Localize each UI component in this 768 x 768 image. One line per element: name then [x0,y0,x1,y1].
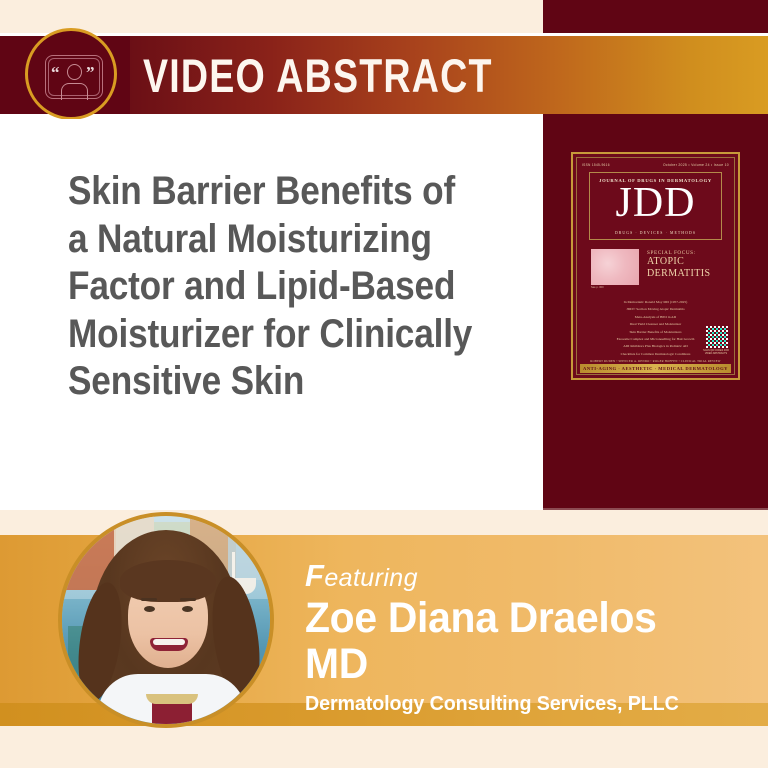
journal-cover[interactable]: ISSN 1545-9616 October 2025 • Volume 24 … [571,152,740,380]
portrait-eyebrow-right [180,598,196,601]
top-right-maroon-strip [543,0,768,33]
portrait-eye-left [144,606,155,612]
featuring-label: Featuring [305,558,735,594]
journal-authors-line: ROBERT RUDEN • SPENCER A. RENDO • ROGER … [583,359,728,363]
list-item: JDD® Section Moving Atopic Dermatitis [587,307,724,311]
video-abstract-card: VIDEO ABSTRACT “ ” Skin Barrier Benefits… [0,0,768,768]
person-body-icon [61,83,88,100]
banner-title: VIDEO ABSTRACT [143,36,493,114]
top-cream-strip [0,0,543,33]
journal-special-focus: SPECIAL FOCUS: ATOPIC DERMATITIS [647,250,730,280]
bottom-cream-strip [0,726,768,768]
list-item: ADI Inhibitors Plus Biologics in Pediatr… [587,344,724,348]
qr-code-caption: SCAN QR CODES FOR VIDEO ABSTRACTS [702,350,730,356]
journal-footer-bar: ANTI-AGING · AESTHETIC · MEDICAL DERMATO… [580,364,731,373]
person-head-icon [67,64,82,80]
featuring-label-capital: F [305,558,324,593]
journal-thumbnail-caption: See p. 000 [591,286,639,289]
journal-issue-line: October 2025 • Volume 24 • Issue 10 [663,163,729,167]
special-focus-topic-line2: DERMATITIS [647,268,730,280]
portrait-necklace [146,694,198,704]
list-item: Dual Yield Cleanser and Moisturizer [587,322,724,326]
quote-left-icon: “ [51,64,60,81]
list-item: Meta-Analysis of BPO in AD [587,315,724,319]
journal-issn: ISSN 1545-9616 [582,163,610,167]
journal-tagline: DRUGS · DEVICES · METHODS [590,231,721,235]
page-title: Skin Barrier Benefits of a Natural Moist… [68,168,473,406]
quote-right-icon: ” [86,64,95,81]
featured-speaker-block: Featuring Zoe Diana Draelos MD Dermatolo… [305,558,735,716]
journal-logo: JDD [590,182,721,224]
video-abstract-icon: “ ” [25,28,117,120]
portrait-bangs [120,560,216,602]
portrait-eye-right [182,606,193,612]
list-item: In Memoriam: Ronald Moy MD (1957-2025) [587,300,724,304]
portrait-eyebrow-left [141,598,157,601]
featuring-label-rest: eaturing [324,564,418,592]
journal-thumbnail-image [591,249,639,285]
journal-masthead-box: JOURNAL OF DRUGS IN DERMATOLOGY JDD DRUG… [589,172,722,240]
journal-footer-text: ANTI-AGING · AESTHETIC · MEDICAL DERMATO… [583,366,728,371]
portrait-teeth [153,639,185,645]
qr-code-icon [706,326,728,348]
avatar [58,512,274,728]
list-item: Exosome Complex and Microneedling for Ha… [587,337,724,341]
speaker-organization: Dermatology Consulting Services, PLLC [305,692,718,716]
special-focus-topic-line1: ATOPIC [647,256,730,268]
speaker-name: Zoe Diana Draelos MD [305,596,714,687]
list-item: Skin Barrier Benefits of Moisturizers [587,330,724,334]
